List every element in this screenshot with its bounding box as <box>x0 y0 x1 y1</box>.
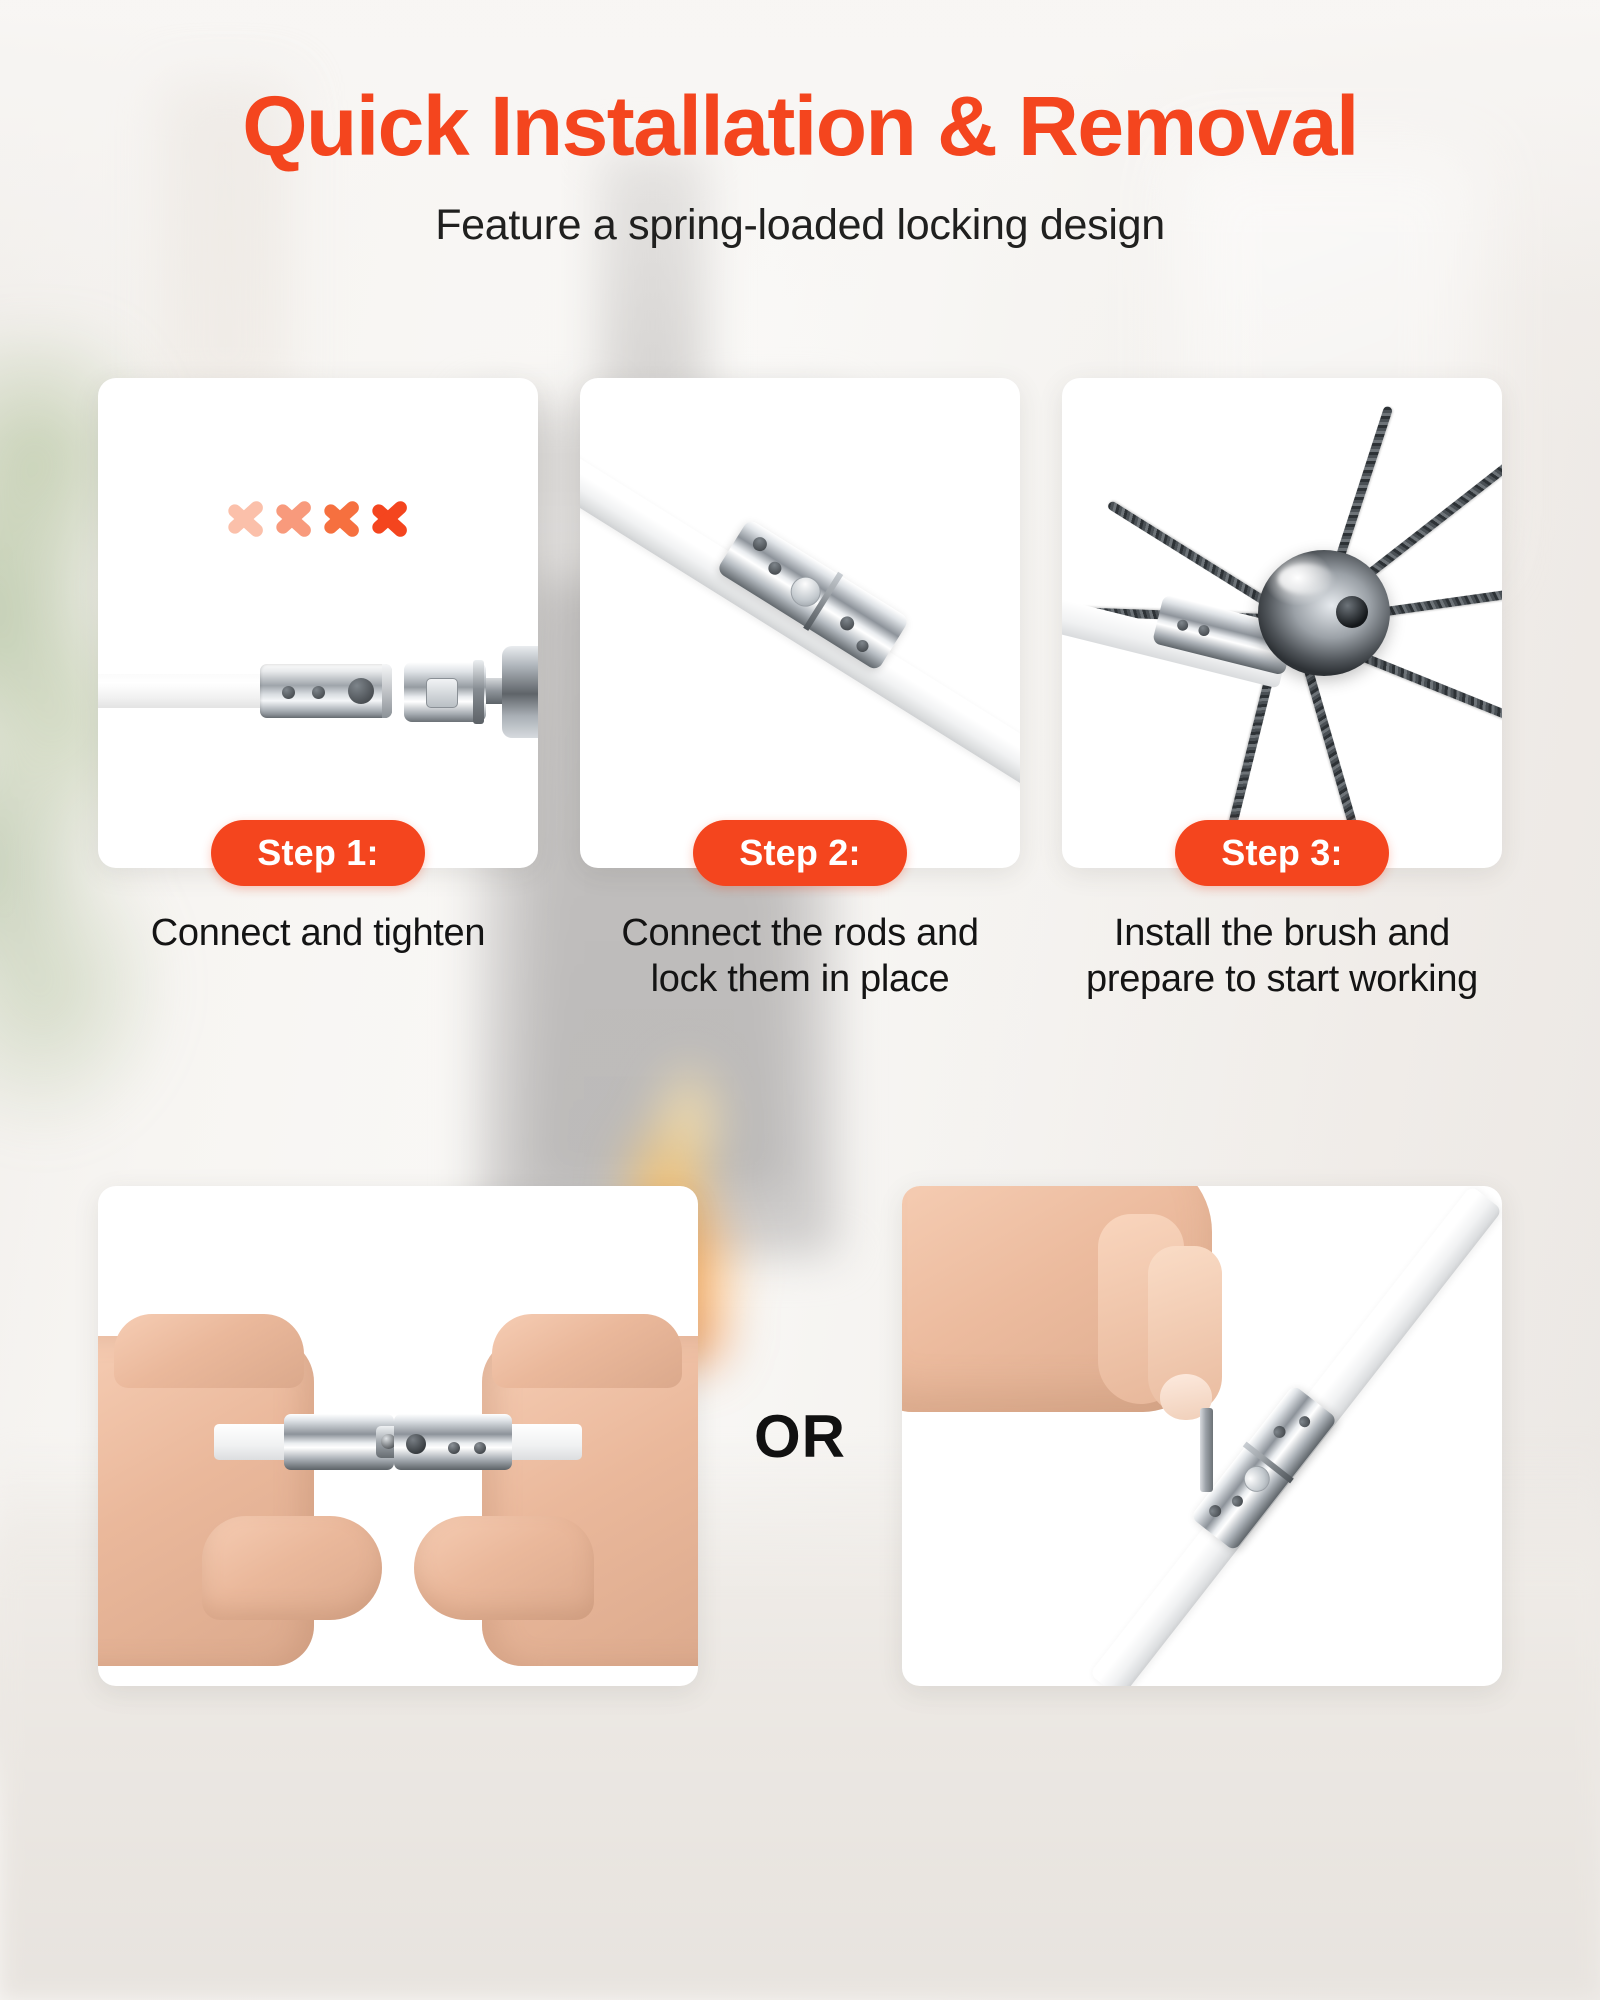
or-label: OR <box>754 1402 846 1471</box>
step-1-badge: Step 1: <box>211 820 424 886</box>
right-rod-connector <box>394 1414 512 1470</box>
header: Quick Installation & Removal Feature a s… <box>0 0 1600 249</box>
step-labels: Step 1: Connect and tighten Step 2: Conn… <box>98 820 1502 1100</box>
coupler-hole-3 <box>348 678 374 704</box>
step-2-caption: Connect the rods and lock them in place <box>585 910 1015 1003</box>
coupling-hole-d <box>1297 1414 1312 1429</box>
chrome-brush-head <box>1258 550 1390 676</box>
step-image-cards <box>98 378 1502 868</box>
step-2-label-group: Step 2: Connect the rods and lock them i… <box>580 820 1020 1100</box>
drill-chuck <box>502 646 538 738</box>
chevron-right-icon-1 <box>226 488 270 550</box>
coupling-hole-1 <box>750 534 769 553</box>
adapter-pin <box>426 678 458 708</box>
right-hand-thumb <box>414 1516 594 1620</box>
right-connector-hole-2 <box>474 1442 486 1454</box>
adapter-ring <box>473 660 484 724</box>
step-1-image-card <box>98 378 538 868</box>
brush-head-socket <box>1336 596 1368 628</box>
hex-key-icon <box>1200 1408 1213 1492</box>
coupling-hole-4 <box>854 638 871 655</box>
step-2-badge: Step 2: <box>693 820 906 886</box>
or-divider: OR <box>698 1186 902 1686</box>
removal-methods: OR <box>98 1186 1502 1686</box>
collar-hole-2 <box>1197 624 1210 637</box>
wire-cable-8 <box>1106 500 1272 608</box>
left-hand-thumb <box>202 1516 382 1620</box>
right-hand-index-finger <box>492 1314 682 1388</box>
coupler-hole-2 <box>312 686 325 699</box>
coupling-hole-c <box>1271 1423 1288 1440</box>
step-3-image-card <box>1062 378 1502 868</box>
white-rod <box>98 674 274 708</box>
chevron-right-icon-4 <box>370 488 414 550</box>
step-1-label-group: Step 1: Connect and tighten <box>98 820 538 1100</box>
rod-chrome-coupler <box>260 664 392 718</box>
coupling-hole-3 <box>837 614 856 633</box>
coupler-end-cap <box>382 664 392 718</box>
white-rod-diagonal <box>580 450 1020 804</box>
coupling-hole-b <box>1230 1493 1245 1508</box>
motion-arrows-group <box>226 488 414 550</box>
removal-by-hex-key-card <box>902 1186 1502 1686</box>
right-connector-button <box>406 1434 426 1454</box>
step-1-caption: Connect and tighten <box>151 910 485 956</box>
collar-hole-1 <box>1176 619 1189 632</box>
step-2-image-card <box>580 378 1020 868</box>
step-3-badge: Step 3: <box>1175 820 1388 886</box>
left-hand-index-finger <box>114 1314 304 1388</box>
coupler-hole-1 <box>282 686 295 699</box>
coupling-hole-a <box>1207 1503 1224 1520</box>
step-3-caption: Install the brush and prepare to start w… <box>1067 910 1497 1003</box>
brush-head-highlight <box>1278 564 1334 594</box>
removal-by-hand-card <box>98 1186 698 1686</box>
drill-adapter-joint <box>404 662 486 722</box>
coupling-hole-2 <box>766 559 784 577</box>
right-connector-hole-1 <box>448 1442 460 1454</box>
page-title: Quick Installation & Removal <box>0 0 1600 168</box>
chevron-right-icon-3 <box>322 488 366 550</box>
chevron-right-icon-2 <box>274 488 318 550</box>
step-3-label-group: Step 3: Install the brush and prepare to… <box>1062 820 1502 1100</box>
page-subtitle: Feature a spring-loaded locking design <box>0 168 1600 249</box>
left-rod-connector <box>284 1414 394 1470</box>
